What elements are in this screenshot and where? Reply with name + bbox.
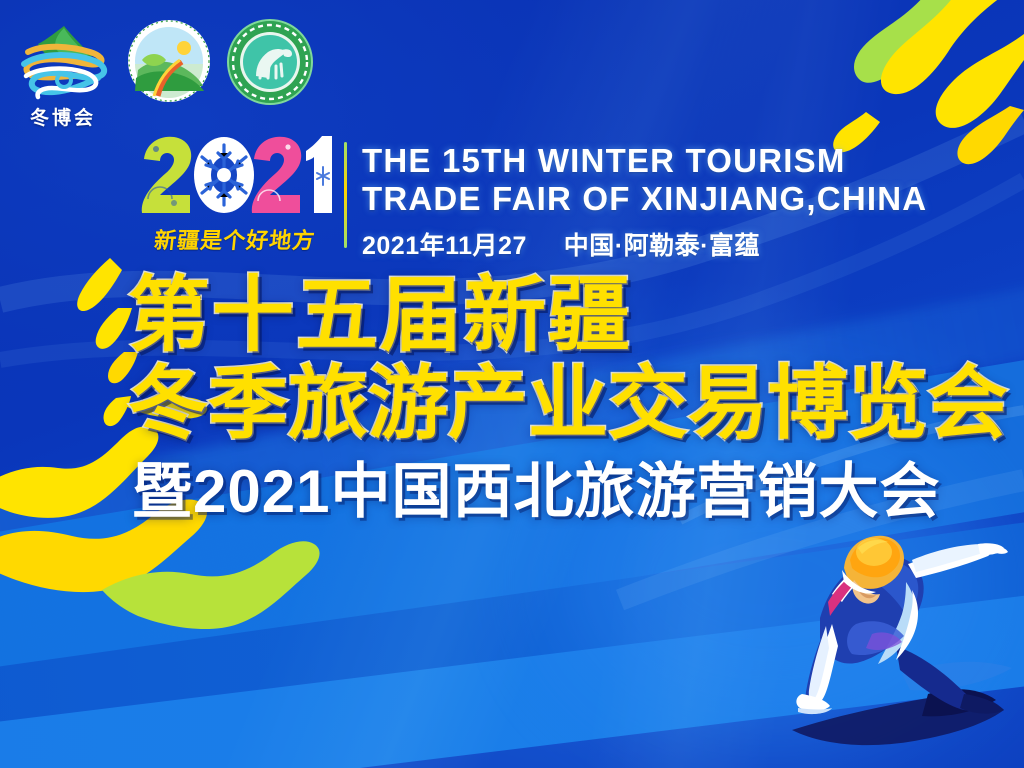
english-title-line-2: TRADE FAIR OF XINJIANG,CHINA [362,180,927,218]
landscape-circle-logo [126,18,212,109]
green-circle-emblem-logo [226,18,314,111]
english-title-line-1: THE 15TH WINTER TOURISM [362,142,927,180]
event-date-location: 2021年11月27 中国·阿勒泰·富蕴 [362,226,927,262]
sub-headline: 暨2021中国西北旅游营销大会 [132,458,940,526]
event-poster: 冬博会 [0,0,1024,768]
emblem-slogan: 新疆是个好地方 [138,223,331,255]
year-emblem: 新疆是个好地方 [138,133,333,251]
speed-skater-illustration [732,498,1024,768]
winter-expo-logo: 冬博会 [14,18,112,128]
winter-expo-logo-icon [14,18,112,108]
main-headline: 第十五届新疆 冬季旅游产业交易博览会 [128,272,1008,448]
winter-expo-logo-caption: 冬博会 [14,103,112,130]
green-circle-emblem-logo-icon [226,18,314,106]
year-emblem-graphic [138,133,333,233]
organizer-logos: 冬博会 [14,18,314,128]
landscape-circle-logo-icon [126,18,212,104]
headline-line-1: 第十五届新疆 [128,272,1008,360]
english-title-block: THE 15TH WINTER TOURISM TRADE FAIR OF XI… [362,142,927,262]
headline-line-2: 冬季旅游产业交易博览会 [128,360,1008,448]
vertical-divider [344,142,347,248]
event-date: 2021年11月27 [362,232,527,260]
event-location: 中国·阿勒泰·富蕴 [564,232,760,260]
